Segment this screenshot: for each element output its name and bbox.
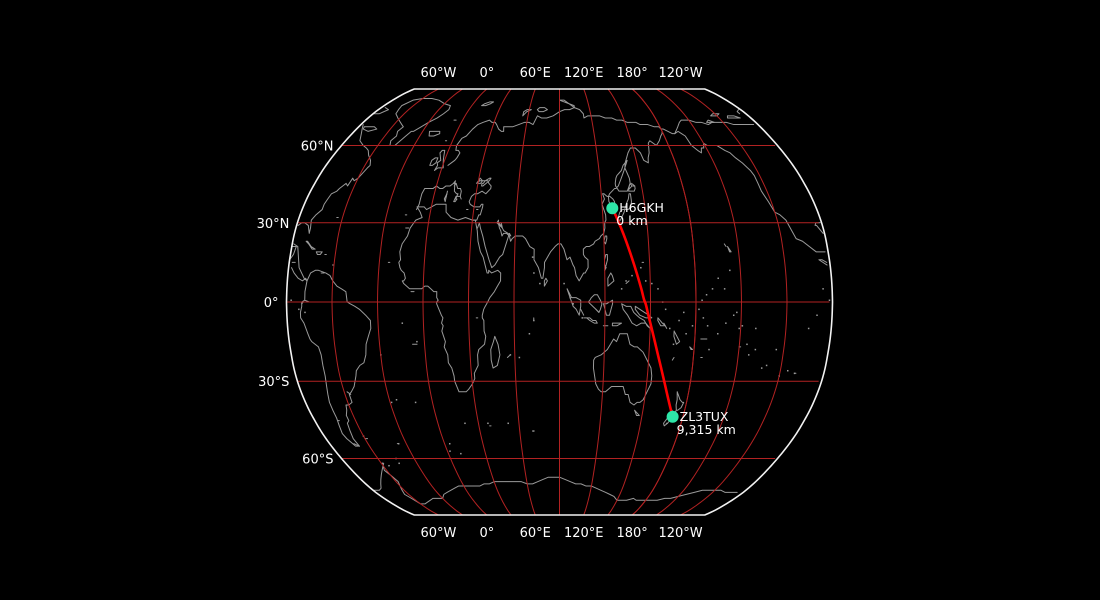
- island-speck: [449, 443, 451, 445]
- island-speck: [706, 294, 708, 296]
- island-speck: [794, 373, 796, 375]
- lon-tick-bottom: 120°E: [564, 526, 604, 541]
- island-speck: [742, 325, 744, 327]
- island-speck: [755, 349, 757, 351]
- island-speck: [507, 423, 509, 425]
- island-speck: [396, 399, 398, 401]
- island-speck: [808, 328, 810, 330]
- island-speck: [533, 320, 535, 322]
- island-speck: [736, 312, 738, 314]
- island-speck: [776, 349, 778, 351]
- island-speck: [698, 309, 700, 311]
- lon-tick-top: 60°W: [420, 66, 456, 81]
- island-speck: [529, 333, 531, 335]
- island-speck: [766, 365, 768, 367]
- island-speck: [398, 443, 400, 445]
- island-speck: [625, 280, 627, 282]
- island-speck: [621, 288, 623, 290]
- island-speck: [519, 357, 521, 359]
- lat-tick: 60°N: [301, 140, 334, 155]
- island-speck: [304, 312, 306, 314]
- island-speck: [398, 463, 400, 465]
- station-distance-zl3tux: 9,315 km: [677, 422, 736, 437]
- lon-tick-bottom: 60°W: [420, 526, 456, 541]
- island-speck: [569, 297, 571, 299]
- island-speck: [746, 344, 748, 346]
- island-speck: [822, 288, 824, 290]
- map-figure: Robinson Projection PM51 to RE66HO (151°…: [0, 0, 1100, 600]
- island-speck: [665, 309, 667, 311]
- island-speck: [391, 402, 393, 404]
- island-speck: [631, 275, 633, 277]
- island-speck: [449, 450, 451, 452]
- island-speck: [683, 312, 685, 314]
- lat-tick: 0°: [264, 296, 279, 311]
- island-speck: [708, 349, 710, 351]
- lon-tick-top: 0°: [479, 66, 494, 81]
- island-speck: [533, 272, 535, 274]
- lat-tick: 30°N: [257, 217, 290, 232]
- island-speck: [402, 322, 404, 324]
- lon-tick-bottom: 0°: [479, 526, 494, 541]
- island-speck: [669, 328, 671, 330]
- island-speck: [755, 328, 757, 330]
- island-speck: [717, 333, 719, 335]
- island-speck: [829, 300, 831, 302]
- island-speck: [738, 328, 740, 330]
- island-speck: [290, 300, 292, 302]
- lon-tick-top: 60°E: [520, 66, 551, 81]
- lon-tick-top: 120°E: [564, 66, 604, 81]
- lon-tick-bottom: 60°E: [520, 526, 551, 541]
- island-speck: [748, 354, 750, 356]
- island-speck: [673, 344, 675, 346]
- lat-tick: 60°S: [302, 452, 333, 467]
- island-speck: [761, 367, 763, 369]
- island-speck: [582, 317, 584, 319]
- station-distance-h6gkh: 0 km: [616, 213, 647, 228]
- island-speck: [416, 341, 418, 343]
- island-speck: [701, 300, 703, 302]
- island-speck: [532, 256, 534, 258]
- island-speck: [733, 315, 735, 317]
- lon-tick-top: 120°W: [658, 66, 702, 81]
- island-speck: [717, 278, 719, 280]
- island-speck: [707, 325, 709, 327]
- lat-tick: 30°S: [258, 375, 289, 390]
- island-speck: [703, 317, 705, 319]
- island-speck: [725, 322, 727, 324]
- island-speck: [532, 430, 534, 432]
- island-speck: [415, 402, 417, 404]
- lon-tick-top: 180°: [616, 66, 647, 81]
- island-speck: [572, 303, 574, 305]
- robinson-map-canvas: H6GKH0 kmZL3TUX9,315 km 0°0°60°E60°E120°…: [0, 0, 1100, 600]
- island-speck: [712, 288, 714, 290]
- island-speck: [657, 288, 659, 290]
- island-speck: [563, 283, 565, 285]
- island-speck: [460, 453, 462, 455]
- island-speck: [464, 423, 466, 425]
- island-speck: [787, 370, 789, 372]
- island-speck: [510, 354, 512, 356]
- island-speck: [816, 315, 818, 317]
- map-background: [0, 0, 1100, 600]
- lon-tick-bottom: 120°W: [658, 526, 702, 541]
- island-speck: [678, 320, 680, 322]
- island-speck: [539, 283, 541, 285]
- island-speck: [685, 333, 687, 335]
- island-speck: [692, 325, 694, 327]
- island-speck: [645, 280, 647, 282]
- island-speck: [724, 288, 726, 290]
- island-speck: [651, 283, 653, 285]
- island-speck: [729, 270, 731, 272]
- island-speck: [487, 423, 489, 425]
- island-speck: [388, 465, 390, 467]
- island-speck: [298, 309, 300, 311]
- island-speck: [640, 267, 642, 269]
- lon-tick-bottom: 180°: [616, 526, 647, 541]
